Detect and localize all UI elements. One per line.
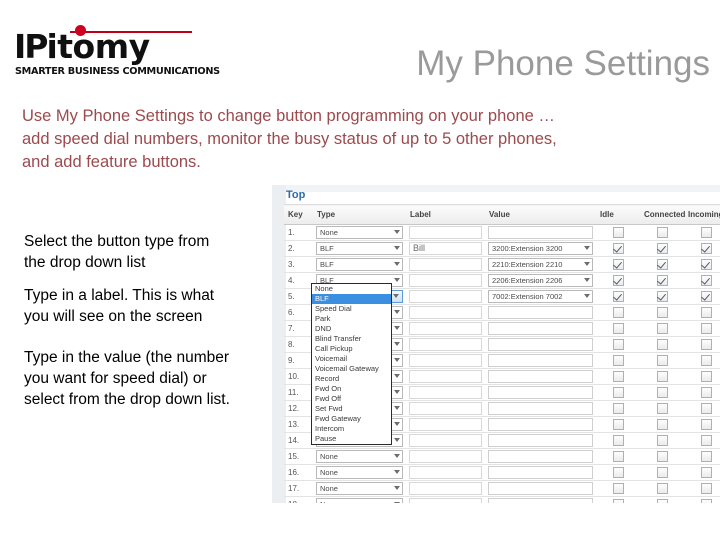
cell-connected xyxy=(640,273,684,289)
dropdown-option[interactable]: Set Fwd xyxy=(312,404,391,414)
cell-label xyxy=(406,353,485,369)
note-button-type-line-1: Select the button type from xyxy=(24,231,209,252)
cell-value xyxy=(485,353,596,369)
type-select[interactable]: None xyxy=(316,466,403,479)
cell-incoming xyxy=(684,337,720,353)
checkbox-idle[interactable] xyxy=(613,307,624,318)
cell-incoming xyxy=(684,241,720,257)
type-select[interactable]: BLF xyxy=(316,258,403,271)
column-header-key: Key xyxy=(284,205,313,225)
cell-type: None xyxy=(313,497,406,504)
cell-connected xyxy=(640,289,684,305)
chevron-down-icon[interactable] xyxy=(394,486,400,490)
cell-connected xyxy=(640,481,684,497)
checkbox-connected[interactable] xyxy=(657,275,668,286)
value-input[interactable] xyxy=(488,418,593,431)
column-header-connected: Connected xyxy=(640,205,684,225)
note-value-line-2: you want for speed dial) or xyxy=(24,368,230,389)
chevron-down-icon[interactable] xyxy=(394,374,400,378)
table-row: 18.None xyxy=(284,497,720,504)
value-select[interactable]: 2210:Extension 2210 xyxy=(488,258,593,271)
cell-value xyxy=(485,401,596,417)
label-input[interactable] xyxy=(409,338,482,351)
table-header-row: Key Type Label Value Idle Connected Inco… xyxy=(284,205,720,225)
section-heading-top: Top xyxy=(286,189,305,201)
checkbox-idle[interactable] xyxy=(613,339,624,350)
cell-incoming xyxy=(684,289,720,305)
cell-label xyxy=(406,273,485,289)
checkbox-idle[interactable] xyxy=(613,387,624,398)
cell-label xyxy=(406,289,485,305)
type-select[interactable]: BLF xyxy=(316,242,403,255)
cell-key: 2. xyxy=(284,241,313,257)
cell-key: 8. xyxy=(284,337,313,353)
cell-connected xyxy=(640,305,684,321)
table-row: 17.None xyxy=(284,481,720,497)
cell-connected xyxy=(640,417,684,433)
cell-incoming xyxy=(684,401,720,417)
chevron-down-icon[interactable] xyxy=(394,342,400,346)
cell-value xyxy=(485,449,596,465)
cell-connected xyxy=(640,257,684,273)
cell-incoming xyxy=(684,449,720,465)
type-select[interactable]: None xyxy=(316,226,403,239)
cell-connected xyxy=(640,225,684,241)
checkbox-incoming[interactable] xyxy=(701,483,712,494)
dropdown-option[interactable]: Intercom xyxy=(312,424,391,434)
checkbox-connected[interactable] xyxy=(657,259,668,270)
cell-value xyxy=(485,369,596,385)
value-input[interactable] xyxy=(488,226,593,239)
chevron-down-icon[interactable] xyxy=(394,438,400,442)
checkbox-idle[interactable] xyxy=(613,499,624,503)
dropdown-option[interactable]: Voicemail Gateway xyxy=(312,364,391,374)
checkbox-idle[interactable] xyxy=(613,291,624,302)
chevron-down-icon[interactable] xyxy=(394,422,400,426)
value-input[interactable] xyxy=(488,338,593,351)
checkbox-idle[interactable] xyxy=(613,371,624,382)
logo-wordmark-ip: IP xyxy=(14,27,46,66)
cell-value xyxy=(485,417,596,433)
cell-incoming xyxy=(684,353,720,369)
checkbox-incoming[interactable] xyxy=(701,323,712,334)
cell-idle xyxy=(596,337,640,353)
column-header-label: Label xyxy=(406,205,485,225)
label-input[interactable] xyxy=(409,226,482,239)
note-label-line-1: Type in a label. This is what xyxy=(24,285,214,306)
cell-incoming xyxy=(684,273,720,289)
cell-connected xyxy=(640,369,684,385)
checkbox-connected[interactable] xyxy=(657,483,668,494)
cell-value xyxy=(485,305,596,321)
type-select[interactable]: None xyxy=(316,482,403,495)
note-button-type-line-2: the drop down list xyxy=(24,252,209,273)
cell-connected xyxy=(640,241,684,257)
cell-key: 16. xyxy=(284,465,313,481)
cell-value xyxy=(485,465,596,481)
cell-label xyxy=(406,449,485,465)
cell-incoming xyxy=(684,433,720,449)
checkbox-incoming[interactable] xyxy=(701,435,712,446)
cell-idle xyxy=(596,289,640,305)
checkbox-incoming[interactable] xyxy=(701,275,712,286)
table-row: 3.BLF2210:Extension 2210 xyxy=(284,257,720,273)
value-input[interactable] xyxy=(488,498,593,503)
cell-value xyxy=(485,481,596,497)
cell-key: 9. xyxy=(284,353,313,369)
value-input[interactable] xyxy=(488,306,593,319)
cell-label xyxy=(406,225,485,241)
dropdown-option[interactable]: Record xyxy=(312,374,391,384)
value-input[interactable] xyxy=(488,402,593,415)
cell-connected xyxy=(640,433,684,449)
note-value-line-3: select from the drop down list. xyxy=(24,389,230,410)
cell-idle xyxy=(596,353,640,369)
checkbox-incoming[interactable] xyxy=(701,243,712,254)
cell-key: 10. xyxy=(284,369,313,385)
value-input[interactable] xyxy=(488,434,593,447)
value-input[interactable] xyxy=(488,466,593,479)
dropdown-option[interactable]: DND xyxy=(312,324,391,334)
table-row: 15.None xyxy=(284,449,720,465)
checkbox-incoming[interactable] xyxy=(701,355,712,366)
checkbox-connected[interactable] xyxy=(657,387,668,398)
cell-value: 2210:Extension 2210 xyxy=(485,257,596,273)
column-header-value: Value xyxy=(485,205,596,225)
cell-idle xyxy=(596,305,640,321)
logo-wordmark-rest: itomy xyxy=(46,27,149,66)
cell-label xyxy=(406,417,485,433)
cell-connected xyxy=(640,449,684,465)
cell-connected xyxy=(640,321,684,337)
cell-incoming xyxy=(684,417,720,433)
cell-key: 15. xyxy=(284,449,313,465)
checkbox-incoming[interactable] xyxy=(701,451,712,462)
cell-connected xyxy=(640,353,684,369)
chevron-down-icon[interactable] xyxy=(584,278,590,282)
cell-type: None xyxy=(313,449,406,465)
type-select[interactable]: None xyxy=(316,450,403,463)
label-input[interactable] xyxy=(409,466,482,479)
dropdown-option[interactable]: Blind Transfer xyxy=(312,334,391,344)
cell-idle xyxy=(596,465,640,481)
type-select[interactable]: None xyxy=(316,498,403,503)
checkbox-idle[interactable] xyxy=(613,275,624,286)
column-header-idle: Idle xyxy=(596,205,640,225)
label-input[interactable] xyxy=(409,290,482,303)
dropdown-option[interactable]: BLF xyxy=(312,294,391,304)
checkbox-connected[interactable] xyxy=(657,227,668,238)
cell-label xyxy=(406,433,485,449)
chevron-down-icon[interactable] xyxy=(394,310,400,314)
value-select[interactable]: 3200:Extension 3200 xyxy=(488,242,593,255)
label-input[interactable] xyxy=(409,402,482,415)
checkbox-idle[interactable] xyxy=(613,259,624,270)
note-label-line-2: you will see on the screen xyxy=(24,306,214,327)
cell-type: None xyxy=(313,465,406,481)
checkbox-connected[interactable] xyxy=(657,243,668,254)
cell-type: BLF xyxy=(313,241,406,257)
phone-settings-screenshot: Top Key Type Label Value Idle Connected … xyxy=(272,185,720,503)
checkbox-incoming[interactable] xyxy=(701,339,712,350)
cell-value xyxy=(485,497,596,504)
intro-line-3: and add feature buttons. xyxy=(22,151,702,174)
cell-key: 5. xyxy=(284,289,313,305)
cell-connected xyxy=(640,465,684,481)
label-input[interactable] xyxy=(409,354,482,367)
checkbox-incoming[interactable] xyxy=(701,259,712,270)
note-label: Type in a label. This is what you will s… xyxy=(24,285,214,327)
cell-label xyxy=(406,337,485,353)
checkbox-connected[interactable] xyxy=(657,403,668,414)
label-input[interactable] xyxy=(409,434,482,447)
checkbox-idle[interactable] xyxy=(613,435,624,446)
chevron-down-icon[interactable] xyxy=(394,502,400,503)
cell-type: BLF xyxy=(313,257,406,273)
cell-idle xyxy=(596,481,640,497)
cell-value xyxy=(485,321,596,337)
cell-label xyxy=(406,481,485,497)
table-row: 16.None xyxy=(284,465,720,481)
note-value: Type in the value (the number you want f… xyxy=(24,347,230,410)
cell-key: 6. xyxy=(284,305,313,321)
note-value-line-1: Type in the value (the number xyxy=(24,347,230,368)
cell-idle xyxy=(596,417,640,433)
value-input[interactable] xyxy=(488,450,593,463)
cell-key: 7. xyxy=(284,321,313,337)
label-input[interactable]: Bill xyxy=(409,242,482,255)
checkbox-incoming[interactable] xyxy=(701,291,712,302)
cell-label xyxy=(406,385,485,401)
dropdown-option[interactable]: Fwd Off xyxy=(312,394,391,404)
checkbox-idle[interactable] xyxy=(613,451,624,462)
label-input[interactable] xyxy=(409,418,482,431)
cell-idle xyxy=(596,401,640,417)
checkbox-connected[interactable] xyxy=(657,419,668,430)
value-select[interactable]: 2206:Extension 2206 xyxy=(488,274,593,287)
value-input[interactable] xyxy=(488,354,593,367)
value-select[interactable]: 7002:Extension 7002 xyxy=(488,290,593,303)
cell-key: 14. xyxy=(284,433,313,449)
label-input[interactable] xyxy=(409,258,482,271)
intro-line-1: Use My Phone Settings to change button p… xyxy=(22,105,702,128)
cell-connected xyxy=(640,385,684,401)
cell-value: 3200:Extension 3200 xyxy=(485,241,596,257)
cell-label: Bill xyxy=(406,241,485,257)
cell-idle xyxy=(596,257,640,273)
value-input[interactable] xyxy=(488,370,593,383)
label-input[interactable] xyxy=(409,482,482,495)
checkbox-idle[interactable] xyxy=(613,243,624,254)
label-input[interactable] xyxy=(409,322,482,335)
checkbox-incoming[interactable] xyxy=(701,387,712,398)
table-row: 2.BLFBill3200:Extension 3200 xyxy=(284,241,720,257)
cell-value xyxy=(485,385,596,401)
type-dropdown-list[interactable]: NoneBLFSpeed DialParkDNDBlind TransferCa… xyxy=(311,283,392,445)
checkbox-connected[interactable] xyxy=(657,323,668,334)
chevron-down-icon[interactable] xyxy=(394,390,400,394)
checkbox-connected[interactable] xyxy=(657,291,668,302)
cell-idle xyxy=(596,497,640,504)
cell-label xyxy=(406,369,485,385)
label-input[interactable] xyxy=(409,306,482,319)
cell-value xyxy=(485,337,596,353)
dropdown-option[interactable]: Pause xyxy=(312,434,391,444)
dropdown-option[interactable]: Call Pickup xyxy=(312,344,391,354)
cell-incoming xyxy=(684,385,720,401)
checkbox-idle[interactable] xyxy=(613,419,624,430)
cell-type: None xyxy=(313,225,406,241)
cell-key: 13. xyxy=(284,417,313,433)
value-input[interactable] xyxy=(488,322,593,335)
checkbox-idle[interactable] xyxy=(613,355,624,366)
chevron-down-icon[interactable] xyxy=(584,262,590,266)
column-header-incoming: Incoming xyxy=(684,205,720,225)
dropdown-option[interactable]: Fwd Gateway xyxy=(312,414,391,424)
checkbox-connected[interactable] xyxy=(657,435,668,446)
chevron-down-icon[interactable] xyxy=(394,278,400,282)
cell-idle xyxy=(596,321,640,337)
chevron-down-icon[interactable] xyxy=(394,230,400,234)
cell-value xyxy=(485,225,596,241)
label-input[interactable] xyxy=(409,498,482,503)
dropdown-option[interactable]: Voicemail xyxy=(312,354,391,364)
checkbox-idle[interactable] xyxy=(613,227,624,238)
cell-label xyxy=(406,401,485,417)
cell-key: 3. xyxy=(284,257,313,273)
checkbox-connected[interactable] xyxy=(657,467,668,478)
cell-label xyxy=(406,305,485,321)
page-title: My Phone Settings xyxy=(260,44,710,84)
checkbox-connected[interactable] xyxy=(657,371,668,382)
dropdown-option[interactable]: Fwd On xyxy=(312,384,391,394)
cell-connected xyxy=(640,401,684,417)
label-input[interactable] xyxy=(409,450,482,463)
dropdown-option[interactable]: Park xyxy=(312,314,391,324)
checkbox-incoming[interactable] xyxy=(701,403,712,414)
logo-tagline: SMARTER BUSINESS COMMUNICATIONS xyxy=(15,66,220,77)
value-input[interactable] xyxy=(488,386,593,399)
chevron-down-icon[interactable] xyxy=(394,326,400,330)
checkbox-idle[interactable] xyxy=(613,323,624,334)
checkbox-idle[interactable] xyxy=(613,467,624,478)
dropdown-option[interactable]: None xyxy=(312,284,391,294)
cell-value: 2206:Extension 2206 xyxy=(485,273,596,289)
label-input[interactable] xyxy=(409,370,482,383)
cell-value: 7002:Extension 7002 xyxy=(485,289,596,305)
cell-idle xyxy=(596,433,640,449)
chevron-down-icon[interactable] xyxy=(394,470,400,474)
intro-line-2: add speed dial numbers, monitor the busy… xyxy=(22,128,702,151)
cell-connected xyxy=(640,497,684,504)
cell-idle xyxy=(596,449,640,465)
chevron-down-icon[interactable] xyxy=(394,454,400,458)
cell-label xyxy=(406,497,485,504)
label-input[interactable] xyxy=(409,274,482,287)
checkbox-connected[interactable] xyxy=(657,307,668,318)
cell-idle xyxy=(596,273,640,289)
cell-idle xyxy=(596,369,640,385)
cell-key: 1. xyxy=(284,225,313,241)
checkbox-incoming[interactable] xyxy=(701,419,712,430)
checkbox-incoming[interactable] xyxy=(701,371,712,382)
cell-idle xyxy=(596,385,640,401)
checkbox-connected[interactable] xyxy=(657,339,668,350)
column-header-type: Type xyxy=(313,205,406,225)
checkbox-idle[interactable] xyxy=(613,483,624,494)
cell-key: 12. xyxy=(284,401,313,417)
checkbox-connected[interactable] xyxy=(657,451,668,462)
cell-idle xyxy=(596,225,640,241)
value-input[interactable] xyxy=(488,482,593,495)
note-button-type: Select the button type from the drop dow… xyxy=(24,231,209,273)
table-row: 1.None xyxy=(284,225,720,241)
cell-key: 4. xyxy=(284,273,313,289)
screenshot-top-strip xyxy=(272,185,720,192)
ipitomy-logo: IPitomy SMARTER BUSINESS COMMUNICATIONS xyxy=(14,14,194,66)
checkbox-connected[interactable] xyxy=(657,499,668,503)
cell-label xyxy=(406,257,485,273)
cell-label xyxy=(406,321,485,337)
cell-incoming xyxy=(684,369,720,385)
cell-incoming xyxy=(684,321,720,337)
chevron-down-icon[interactable] xyxy=(394,246,400,250)
cell-incoming xyxy=(684,305,720,321)
cell-incoming xyxy=(684,497,720,504)
logo-wordmark: IPitomy xyxy=(14,30,150,64)
chevron-down-icon[interactable] xyxy=(394,358,400,362)
dropdown-option[interactable]: Speed Dial xyxy=(312,304,391,314)
cell-connected xyxy=(640,337,684,353)
cell-incoming xyxy=(684,225,720,241)
label-input[interactable] xyxy=(409,386,482,399)
cell-incoming xyxy=(684,481,720,497)
checkbox-incoming[interactable] xyxy=(701,499,712,503)
chevron-down-icon[interactable] xyxy=(393,294,399,298)
checkbox-idle[interactable] xyxy=(613,403,624,414)
cell-incoming xyxy=(684,465,720,481)
checkbox-incoming[interactable] xyxy=(701,467,712,478)
cell-key: 18. xyxy=(284,497,313,504)
intro-paragraph: Use My Phone Settings to change button p… xyxy=(22,105,702,174)
cell-key: 17. xyxy=(284,481,313,497)
cell-incoming xyxy=(684,257,720,273)
chevron-down-icon[interactable] xyxy=(584,246,590,250)
cell-idle xyxy=(596,241,640,257)
chevron-down-icon[interactable] xyxy=(394,406,400,410)
cell-label xyxy=(406,465,485,481)
cell-type: None xyxy=(313,481,406,497)
chevron-down-icon[interactable] xyxy=(584,294,590,298)
chevron-down-icon[interactable] xyxy=(394,262,400,266)
checkbox-incoming[interactable] xyxy=(701,227,712,238)
checkbox-incoming[interactable] xyxy=(701,307,712,318)
cell-key: 11. xyxy=(284,385,313,401)
cell-value xyxy=(485,433,596,449)
checkbox-connected[interactable] xyxy=(657,355,668,366)
